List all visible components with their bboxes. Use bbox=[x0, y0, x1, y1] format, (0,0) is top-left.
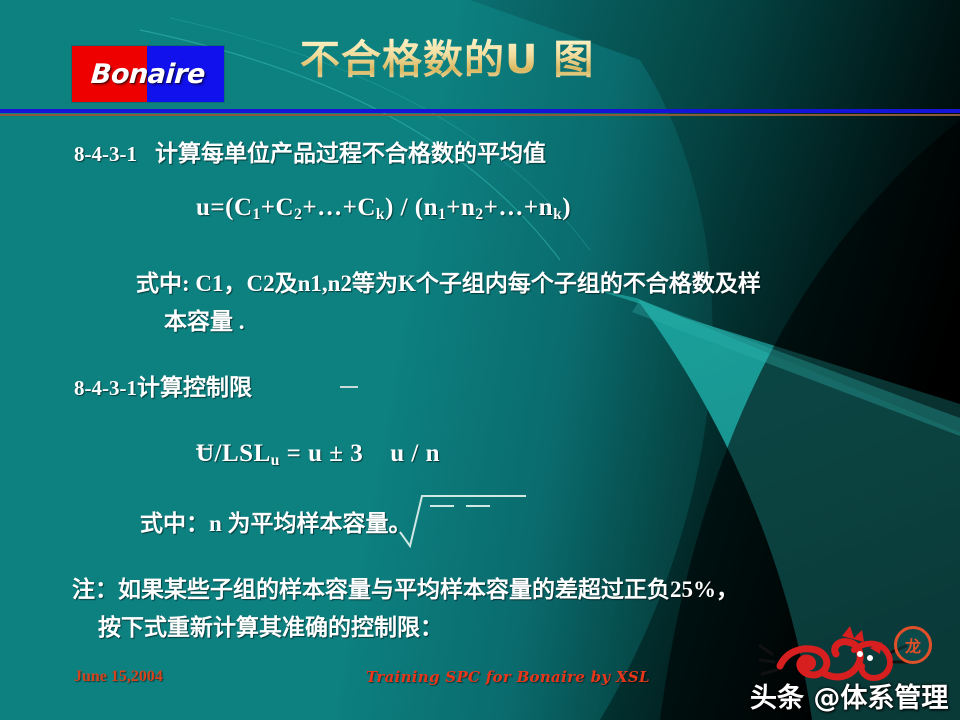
section-2-explanation: 式中：n 为平均样本容量。 bbox=[140, 504, 412, 538]
formula-average-u: u=(C1+C2+…+Ck) / (n1+n2+…+nk) bbox=[196, 194, 571, 224]
formula-rhs: = u ± 3 u / n bbox=[280, 440, 440, 467]
section-1-heading: 8-4-3-1计算每单位产品过程不合格数的平均值 bbox=[74, 134, 546, 168]
formula-part: +…+n bbox=[484, 194, 553, 221]
header-divider-brown bbox=[0, 114, 960, 116]
watermark-text: 头条 @体系管理 bbox=[750, 676, 948, 715]
slide-header: Bonaire 不合格数的U 图 不合格数的U 图 bbox=[0, 0, 960, 110]
formula-part: ) bbox=[562, 194, 571, 221]
formula-sub: 2 bbox=[475, 206, 483, 223]
formula-part: u=(C bbox=[196, 194, 253, 221]
formula-part: +…+C bbox=[302, 194, 376, 221]
presentation-slide: Bonaire 不合格数的U 图 不合格数的U 图 8-4-3-1计算每单位产品… bbox=[0, 0, 960, 720]
formula-part: +C bbox=[261, 194, 294, 221]
formula-sub: 1 bbox=[253, 206, 261, 223]
footer-date: June 15,2004 bbox=[74, 668, 163, 686]
slide-body: 8-4-3-1计算每单位产品过程不合格数的平均值 u=(C1+C2+…+Ck) … bbox=[0, 118, 960, 648]
dragon-badge-icon: 龙 bbox=[894, 626, 932, 664]
formula-control-limits: U/LSLu = u ± 3 u / n bbox=[196, 440, 440, 470]
formula-lhs: U/LSL bbox=[196, 440, 271, 467]
note-line-2: 按下式重新计算其准确的控制限： bbox=[98, 608, 443, 642]
section-1-explanation-line-1: 式中: C1，C2及n1,n2等为K个子组内每个子组的不合格数及样 bbox=[136, 264, 761, 298]
heading-dash-mark bbox=[340, 386, 358, 388]
formula-sub: k bbox=[553, 206, 562, 223]
header-divider-blue bbox=[0, 109, 960, 113]
formula-lhs-sub: u bbox=[271, 452, 280, 469]
bonaire-logo: Bonaire bbox=[72, 46, 224, 102]
section-1-explanation-line-2: 本容量 . bbox=[164, 302, 245, 336]
formula-sub: k bbox=[376, 206, 385, 223]
section-1-number: 8-4-3-1 bbox=[74, 142, 137, 166]
watermark: 龙 头条 @体系管理 bbox=[742, 624, 958, 720]
page-title: 不合格数的U 图 bbox=[300, 38, 720, 82]
section-2-number: 8-4-3-1 bbox=[74, 376, 137, 400]
logo-text: Bonaire bbox=[90, 59, 206, 90]
section-2-heading: 8-4-3-1计算控制限 bbox=[74, 368, 252, 402]
formula-part: ) / (n bbox=[385, 194, 438, 221]
section-2-heading-text: 计算控制限 bbox=[137, 375, 252, 400]
footer-tagline: Training SPC for Bonaire by XSL bbox=[366, 668, 650, 686]
formula-part: +n bbox=[446, 194, 475, 221]
square-root-icon bbox=[398, 490, 528, 548]
note-line-1: 注：如果某些子组的样本容量与平均样本容量的差超过正负25%， bbox=[72, 570, 739, 604]
section-1-heading-text: 计算每单位产品过程不合格数的平均值 bbox=[155, 141, 546, 166]
